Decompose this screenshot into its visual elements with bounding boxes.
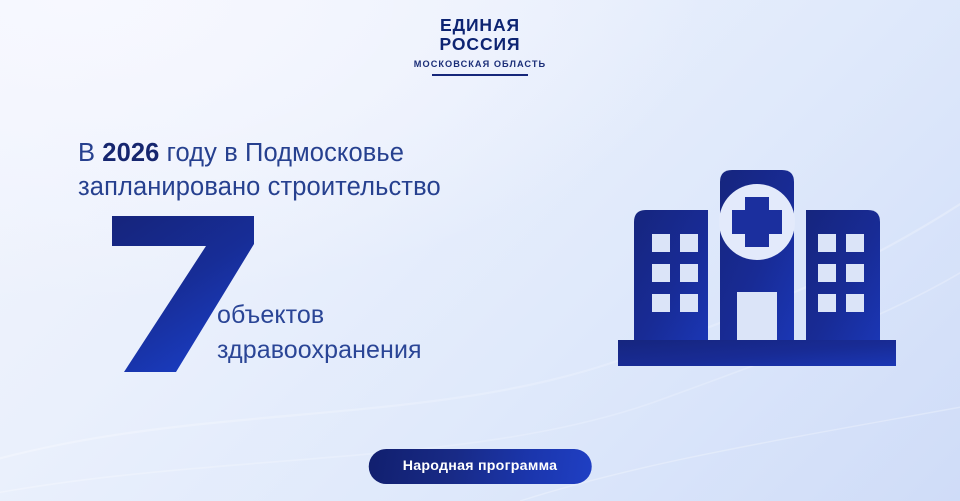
logo-region-label: МОСКОВСКАЯ ОБЛАСТЬ	[414, 59, 546, 69]
page-title: В 2026 году в Подмосковье запланировано …	[78, 137, 538, 204]
logo-underline-rule	[432, 74, 528, 77]
statistic-caption: объектов здравоохранения	[217, 298, 422, 367]
headline-year: 2026	[102, 139, 159, 167]
caption-line-1: объектов	[217, 298, 422, 333]
hospital-building-icon	[612, 168, 902, 370]
poster-canvas: ЕДИНАЯ РОССИЯ МОСКОВСКАЯ ОБЛАСТЬ В 2026 …	[0, 0, 960, 501]
hospital-door	[737, 292, 777, 340]
caption-line-2: здравоохранения	[217, 333, 422, 368]
hospital-base	[618, 340, 896, 366]
logo-line-2: РОССИЯ	[440, 35, 521, 54]
party-logo: ЕДИНАЯ РОССИЯ МОСКОВСКАЯ ОБЛАСТЬ	[0, 16, 960, 76]
hospital-right-wing	[806, 210, 880, 340]
narodnaya-programma-button[interactable]: Народная программа	[369, 449, 592, 484]
logo-line-1: ЕДИНАЯ	[440, 16, 520, 35]
statistic-block: объектов здравоохранения	[78, 214, 548, 374]
headline-prefix: В	[78, 139, 102, 167]
